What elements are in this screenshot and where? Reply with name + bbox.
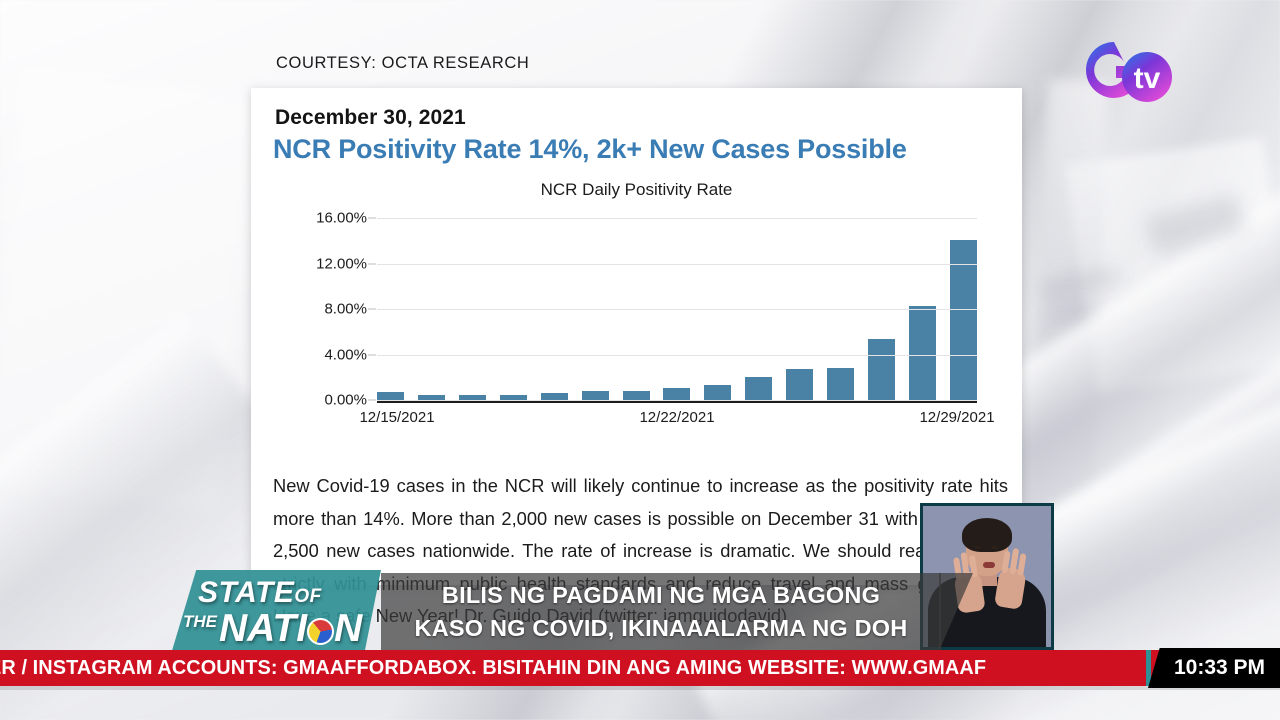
- philippine-flag-icon: [307, 618, 334, 645]
- program-logo-line1: STATEOF: [198, 576, 322, 610]
- chart-title: NCR Daily Positivity Rate: [273, 180, 1000, 200]
- interpreter-hair: [962, 518, 1012, 552]
- chart-y-tick-mark: [368, 400, 376, 401]
- chart-gridline: [377, 218, 977, 219]
- chart-bar: [786, 369, 813, 400]
- chart-y-tick-label: 8.00%: [324, 301, 367, 318]
- chart-y-tick-mark: [368, 354, 376, 355]
- chart-bar: [541, 393, 568, 400]
- headline-line-2: KASO NG COVID, IKINAAALARMA NG DOH: [415, 612, 908, 645]
- gtv-logo-icon: tv: [1070, 32, 1182, 110]
- svg-text:tv: tv: [1134, 62, 1161, 95]
- slide-date: December 30, 2021: [275, 106, 466, 130]
- program-logo-the: THE: [183, 612, 217, 632]
- chart-bar: [827, 368, 854, 400]
- program-logo-of: OF: [294, 586, 321, 607]
- interpreter-eye: [975, 546, 981, 549]
- slide-headline: NCR Positivity Rate 14%, 2k+ New Cases P…: [273, 134, 907, 165]
- program-logo-n: N: [334, 607, 362, 651]
- positivity-rate-chart: NCR Daily Positivity Rate 0.00%4.00%8.00…: [273, 180, 1000, 452]
- chart-bar: [868, 339, 895, 400]
- chart-gridline: [377, 355, 977, 356]
- chart-bar: [377, 392, 404, 400]
- chart-plot-area: 0.00%4.00%8.00%12.00%16.00%12/15/202112/…: [377, 218, 977, 403]
- ticker-text: ER / INSTAGRAM ACCOUNTS: GMAAFFORDABOX. …: [0, 656, 986, 680]
- clock-display: 10:33 PM: [1160, 648, 1280, 688]
- clock-time: 10:33 PM: [1174, 656, 1265, 680]
- chart-y-tick-label: 12.00%: [316, 255, 367, 272]
- courtesy-label: COURTESY: OCTA RESEARCH: [276, 54, 529, 73]
- chart-y-tick-label: 16.00%: [316, 210, 367, 227]
- headline-banner: BILIS NG PAGDAMI NG MGA BAGONG KASO NG C…: [381, 573, 941, 651]
- chart-y-tick-mark: [368, 263, 376, 264]
- chart-y-tick-label: 4.00%: [324, 346, 367, 363]
- chart-x-tick-label: 12/29/2021: [919, 409, 994, 426]
- chart-gridline: [377, 264, 977, 265]
- broadcast-frame: COURTESY: OCTA RESEARCH tv December 30, …: [0, 0, 1280, 720]
- program-logo-line2: THENATIN: [183, 607, 362, 651]
- chart-bar: [909, 306, 936, 400]
- chart-bar: [663, 388, 690, 401]
- chart-bar: [582, 391, 609, 400]
- chart-bar: [745, 377, 772, 400]
- chart-y-tick-mark: [368, 309, 376, 310]
- headline-line-1: BILIS NG PAGDAMI NG MGA BAGONG: [442, 579, 880, 612]
- chart-x-tick-label: 12/22/2021: [639, 409, 714, 426]
- chart-bar: [623, 391, 650, 400]
- interpreter-mouth: [983, 562, 995, 568]
- chart-bar: [704, 385, 731, 400]
- interpreter-eye: [991, 546, 997, 549]
- program-logo-state: STATE: [198, 576, 294, 609]
- chart-y-tick-label: 0.00%: [324, 392, 367, 409]
- presentation-slide: December 30, 2021 NCR Positivity Rate 14…: [251, 88, 1022, 585]
- chart-gridline: [377, 309, 977, 310]
- news-ticker: ER / INSTAGRAM ACCOUNTS: GMAAFFORDABOX. …: [0, 650, 1180, 686]
- chart-x-tick-label: 12/15/2021: [359, 409, 434, 426]
- ticker-shadow: [0, 686, 1280, 690]
- chart-y-tick-mark: [368, 218, 376, 219]
- chart-gridline: [377, 400, 977, 401]
- program-logo: STATEOF THENATIN: [171, 570, 381, 654]
- program-logo-nati: NATI: [219, 607, 307, 651]
